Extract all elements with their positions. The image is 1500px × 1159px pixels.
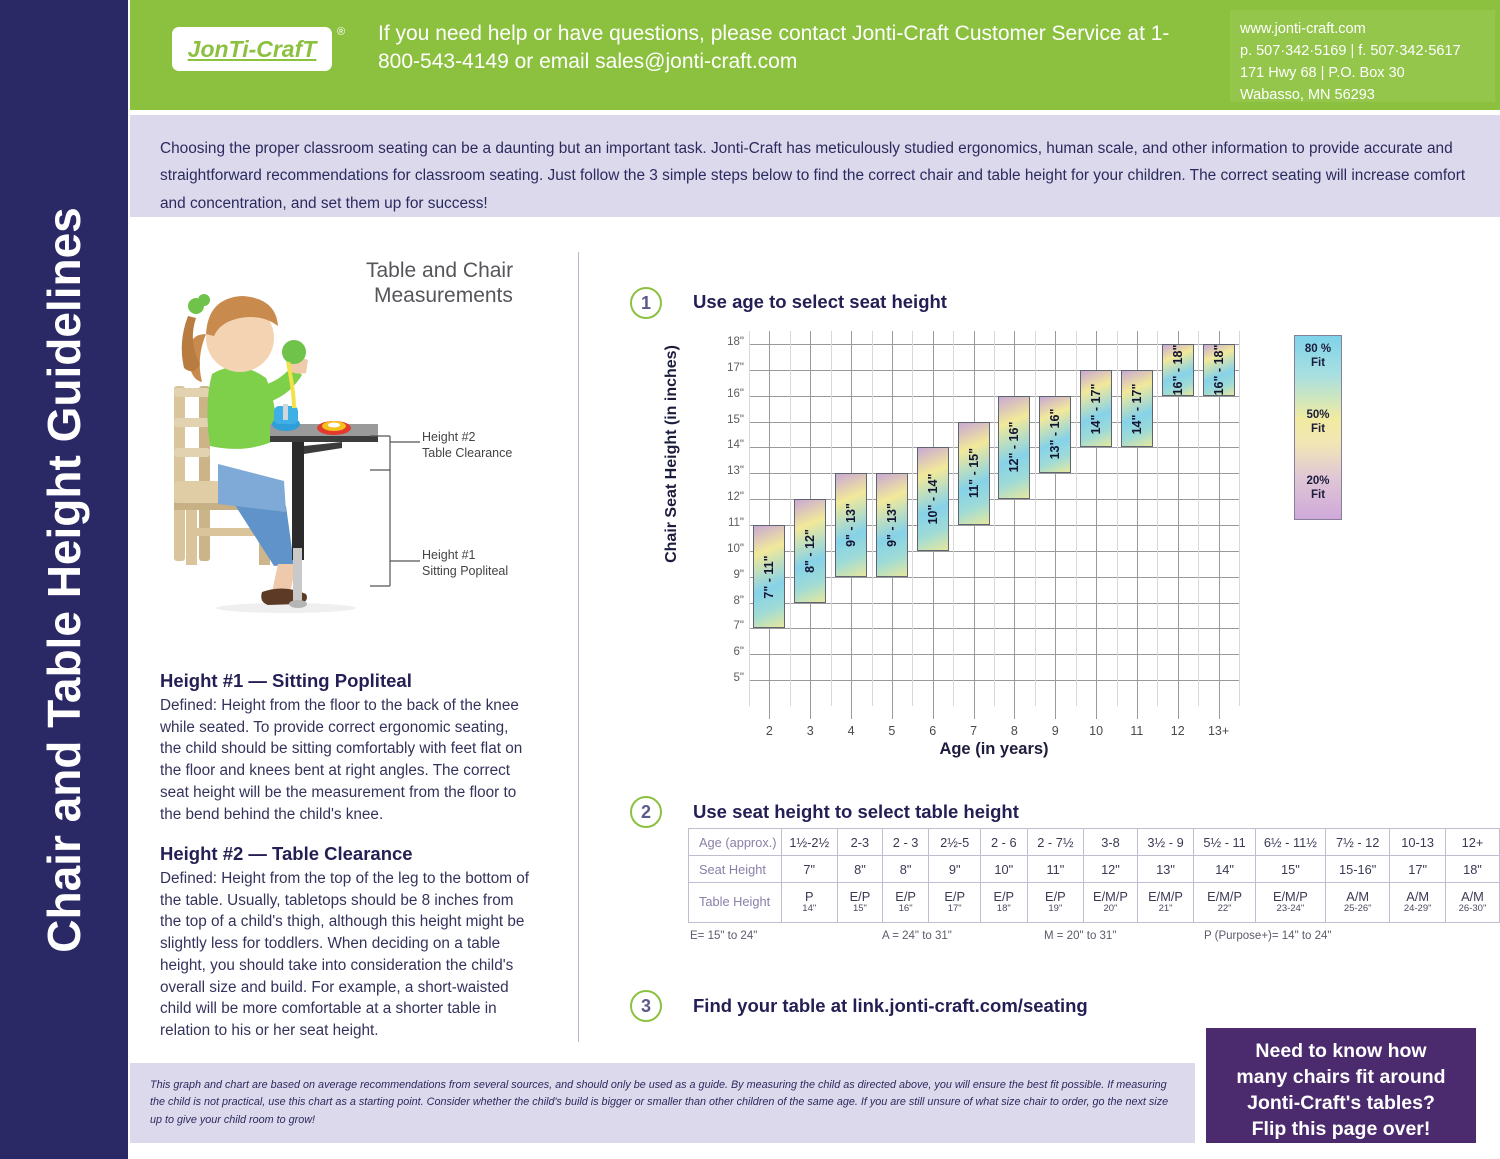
table-cell-height-size: 21" [1142,904,1190,915]
table-cell-height-size: 26-30" [1450,904,1495,915]
registered-trademark-icon: ® [337,26,345,38]
chart-x-tick-label: 13+ [1204,724,1234,738]
chart-y-tick: 15" [708,414,744,426]
table-cell-seat-height: 9" [929,856,981,883]
fit-legend-80-sub: Fit [1311,357,1325,369]
chart-gridline-v-minor [1157,331,1158,706]
chart-bar: 16" - 18" [1162,344,1194,396]
chart-plot-area: 7" - 11"8" - 12"9" - 13"9" - 13"10" - 14… [749,331,1239,706]
seat-table-height-table: Age (approx.)1½-2½2-32 - 32½-52 - 62 - 7… [688,828,1500,923]
table-row-age: Age (approx.)1½-2½2-32 - 32½-52 - 62 - 7… [689,829,1500,856]
table-cell-age: 7½ - 12 [1325,829,1389,856]
table-cell-age: 2-3 [837,829,882,856]
fit-legend-50: 50% Fit [1294,409,1342,437]
chart-x-tick-label: 3 [795,724,825,738]
table-cell-age: 2 - 6 [981,829,1027,856]
chart-bar-label: 9" - 13" [844,503,858,547]
chart-gridline-v-major [769,331,770,706]
table-cell-age: 2 - 3 [882,829,928,856]
table-cell-table-height: E/M/P22" [1194,883,1255,923]
chart-y-tick: 10" [708,543,744,555]
chart-y-tick: 16" [708,388,744,400]
chart-bar-label: 8" - 12" [803,529,817,573]
table-cell-seat-height: 13" [1137,856,1194,883]
chart-gridline-v-minor [1198,331,1199,706]
contact-phones: p. 507·342·5169 | f. 507·342·5617 [1240,40,1495,62]
measurement-callouts: Height #2 Table Clearance Height #1 Sitt… [370,418,580,593]
row-label-table: Table Height [689,883,782,923]
callout-height1-line2: Sitting Popliteal [422,564,508,580]
chart-bar: 16" - 18" [1203,344,1235,396]
table-cell-table-height: A/M25-26" [1325,883,1389,923]
table-cell-seat-height: 10" [981,856,1027,883]
flip-line-4: Flip this page over! [1206,1116,1476,1142]
chart-x-tick-mark [1096,706,1097,719]
row-label-seat: Seat Height [689,856,782,883]
table-cell-seat-height: 12" [1084,856,1138,883]
table-cell-seat-height: 11" [1027,856,1084,883]
step-2-badge: 2 [630,796,662,828]
table-cell-table-height: E/P15" [837,883,882,923]
fit-legend-20: 20% Fit [1294,475,1342,503]
sidebar: Chair and Table Height Guidelines [0,0,128,1159]
flip-page-callout[interactable]: Need to know how many chairs fit around … [1206,1028,1476,1143]
table-cell-table-height: P14" [781,883,837,923]
chart-gridline-v-minor [912,331,913,706]
chart-gridline-v-minor [1035,331,1036,706]
chart-gridline-v-minor [872,331,873,706]
header-bar: JonTi-CrafT ® If you need help or have q… [130,0,1500,110]
section-height-2-heading: Height #2 — Table Clearance [160,843,532,865]
seat-height-chart: Chair Seat Height (in inches) 18"17"16"1… [618,285,1478,765]
chart-y-tick: 11" [708,517,744,529]
chart-x-tick-mark [1178,706,1179,719]
chart-y-tick: 18" [708,336,744,348]
chart-x-tick-label: 10 [1081,724,1111,738]
flip-line-1: Need to know how [1206,1038,1476,1064]
chart-gridline-v-minor [953,331,954,706]
table-cell-seat-height: 8" [882,856,928,883]
contact-address-line2: Wabasso, MN 56293 [1240,84,1495,106]
chart-bar-label: 14" - 17" [1089,383,1103,434]
chart-gridline-v-minor [749,331,750,706]
table-cell-age: 3½ - 9 [1137,829,1194,856]
table-cell-height-size: 19" [1032,904,1080,915]
chart-y-tick: 14" [708,439,744,451]
chart-x-tick-label: 5 [877,724,907,738]
chart-gridline-v-minor [831,331,832,706]
chart-y-tick: 6" [708,646,744,658]
chart-y-tick: 13" [708,465,744,477]
callout-height2-line2: Table Clearance [422,446,512,462]
chart-gridline-v-minor [1076,331,1077,706]
legend-code-a: A = 24" to 31" [882,930,952,942]
fit-legend-50-sub: Fit [1311,423,1325,435]
chart-x-tick-mark [851,706,852,719]
chart-bar-label: 16" - 18" [1171,344,1185,395]
section-height-2-body: Defined: Height from the top of the leg … [160,868,532,1042]
table-cell-table-height: A/M26-30" [1445,883,1499,923]
callout-height1: Height #1 Sitting Popliteal [422,548,508,579]
chart-bar-label: 14" - 17" [1130,383,1144,434]
table-cell-height-size: 22" [1198,904,1250,915]
table-cell-height-size: 18" [985,904,1022,915]
chart-bar-label: 16" - 18" [1212,344,1226,395]
chart-x-tick-mark [933,706,934,719]
page-title: Chair and Table Height Guidelines [37,207,91,952]
chart-x-tick-mark [1219,706,1220,719]
chart-gridline-v-minor [1239,331,1240,706]
table-cell-table-height: E/M/P23-24" [1255,883,1325,923]
header-help-message: If you need help or have questions, plea… [378,20,1178,76]
section-height-2: Height #2 — Table Clearance Defined: Hei… [160,843,532,1042]
table-cell-height-size: 16" [887,904,924,915]
table-cell-height-size: 17" [933,904,976,915]
legend-code-p: P (Purpose+)= 14" to 24" [1204,930,1332,942]
table-cell-seat-height: 18" [1445,856,1499,883]
chart-x-tick-mark [810,706,811,719]
table-cell-height-size: 24-29" [1394,904,1441,915]
contact-info-block: www.jonti-craft.com p. 507·342·5169 | f.… [1230,10,1495,102]
chart-bar-label: 13" - 16" [1048,409,1062,460]
table-cell-age: 5½ - 11 [1194,829,1255,856]
section-height-1-heading: Height #1 — Sitting Popliteal [160,670,532,692]
table-row-seat: Seat Height7"8"8"9"10"11"12"13"14"15"15-… [689,856,1500,883]
table-cell-table-height: E/M/P20" [1084,883,1138,923]
contact-website[interactable]: www.jonti-craft.com [1240,18,1495,40]
chart-y-tick: 17" [708,362,744,374]
chart-y-axis-label: Chair Seat Height (in inches) [663,304,681,604]
fit-legend-50-value: 50% [1306,409,1329,421]
chart-y-tick: 8" [708,595,744,607]
fit-legend-80: 80 % Fit [1294,343,1342,371]
chart-x-tick-label: 12 [1163,724,1193,738]
chart-x-tick-label: 8 [999,724,1029,738]
chart-bar: 11" - 15" [958,422,990,525]
chart-bar: 8" - 12" [794,499,826,602]
chart-x-tick-label: 4 [836,724,866,738]
chart-y-axis-ticks: 18"17"16"15"14"13"12"11"10"9"8"7"6"5" [704,331,744,706]
callout-height2-line1: Height #2 [422,430,512,446]
row-label-age: Age (approx.) [689,829,782,856]
chart-x-tick-label: 6 [918,724,948,738]
chart-x-tick-label: 7 [959,724,989,738]
fit-legend-20-sub: Fit [1311,489,1325,501]
table-cell-age: 3-8 [1084,829,1138,856]
table-cell-age: 2 - 7½ [1027,829,1084,856]
table-cell-seat-height: 17" [1390,856,1446,883]
measurements-title-line2: Measurements [366,283,566,308]
table-cell-seat-height: 14" [1194,856,1255,883]
table-cell-age: 1½-2½ [781,829,837,856]
table-cell-table-height: A/M24-29" [1390,883,1446,923]
intro-panel: Choosing the proper classroom seating ca… [130,115,1500,217]
legend-code-e: E= 15" to 24" [690,930,757,942]
child-at-table-illustration [166,276,381,616]
step-2-title: Use seat height to select table height [693,801,1019,823]
table-cell-seat-height: 7" [781,856,837,883]
callout-height2: Height #2 Table Clearance [422,430,512,461]
table-cell-seat-height: 15" [1255,856,1325,883]
chart-x-tick-mark [892,706,893,719]
step-3-title[interactable]: Find your table at link.jonti-craft.com/… [693,995,1088,1017]
table-cell-age: 6½ - 11½ [1255,829,1325,856]
chart-bar: 10" - 14" [917,447,949,550]
chart-bar-label: 7" - 11" [762,555,776,598]
chart-bar: 12" - 16" [998,396,1030,499]
chart-x-tick-label: 2 [754,724,784,738]
fit-legend-80-value: 80 % [1305,343,1331,355]
section-height-1: Height #1 — Sitting Popliteal Defined: H… [160,670,532,825]
chart-gridline-v-major [1014,331,1015,706]
flip-line-2: many chairs fit around [1206,1064,1476,1090]
logo-text: JonTi-CrafT [172,27,332,71]
chart-y-tick: 12" [708,491,744,503]
measurements-title: Table and Chair Measurements [366,258,566,308]
chart-bar: 14" - 17" [1080,370,1112,448]
chart-y-tick: 7" [708,620,744,632]
footer-disclaimer-panel: This graph and chart are based on averag… [130,1063,1195,1143]
table-cell-seat-height: 8" [837,856,882,883]
table-cell-table-height: E/P19" [1027,883,1084,923]
child-seated-photo [166,276,381,616]
chart-bar-label: 10" - 14" [926,474,940,525]
section-height-1-body: Defined: Height from the floor to the ba… [160,695,532,825]
table-cell-height-size: 20" [1088,904,1133,915]
vertical-divider [578,252,579,1042]
chart-y-tick: 5" [708,672,744,684]
chart-gridline-v-minor [1117,331,1118,706]
table-cell-height-size: 23-24" [1260,904,1321,915]
table-cell-height-size: 14" [786,904,833,915]
step-3-badge: 3 [630,990,662,1022]
chart-x-tick-mark [974,706,975,719]
chart-gridline-v-major [1055,331,1056,706]
fit-legend-20-value: 20% [1306,475,1329,487]
table-cell-seat-height: 15-16" [1325,856,1389,883]
chart-x-tick-mark [1137,706,1138,719]
table-cell-height-size: 25-26" [1330,904,1385,915]
table-cell-age: 12+ [1445,829,1499,856]
chart-bar-label: 9" - 13" [885,503,899,547]
legend-code-m: M = 20" to 31" [1044,930,1116,942]
chart-bar: 14" - 17" [1121,370,1153,448]
chart-gridline-v-minor [994,331,995,706]
intro-paragraph: Choosing the proper classroom seating ca… [160,135,1470,217]
chart-bar-label: 11" - 15" [967,448,981,498]
chart-x-axis-label: Age (in years) [749,740,1239,759]
chart-bar-label: 12" - 16" [1007,422,1021,473]
chart-x-tick-mark [1055,706,1056,719]
chart-bar: 9" - 13" [876,473,908,576]
callout-height1-line1: Height #1 [422,548,508,564]
table-cell-age: 10-13 [1390,829,1446,856]
chart-bar: 13" - 16" [1039,396,1071,474]
measurements-title-line1: Table and Chair [366,259,513,282]
table-cell-age: 2½-5 [929,829,981,856]
footer-disclaimer-text: This graph and chart are based on averag… [150,1077,1175,1129]
table-cell-table-height: E/P17" [929,883,981,923]
chart-x-tick-mark [1014,706,1015,719]
table-row-table: Table HeightP14"E/P15"E/P16"E/P17"E/P18"… [689,883,1500,923]
chart-x-tick-label: 9 [1040,724,1070,738]
table-cell-height-size: 15" [842,904,878,915]
contact-address-line1: 171 Hwy 68 | P.O. Box 30 [1240,62,1495,84]
chart-x-tick-mark [769,706,770,719]
flip-line-3: Jonti-Craft's tables? [1206,1090,1476,1116]
chart-x-tick-label: 11 [1122,724,1152,738]
chart-y-tick: 9" [708,569,744,581]
table-cell-table-height: E/P16" [882,883,928,923]
chart-gridline-v-minor [790,331,791,706]
table-cell-table-height: E/P18" [981,883,1027,923]
chart-bar: 9" - 13" [835,473,867,576]
table-cell-table-height: E/M/P21" [1137,883,1194,923]
jonti-craft-logo: JonTi-CrafT [172,27,332,71]
chart-bar: 7" - 11" [753,525,785,628]
